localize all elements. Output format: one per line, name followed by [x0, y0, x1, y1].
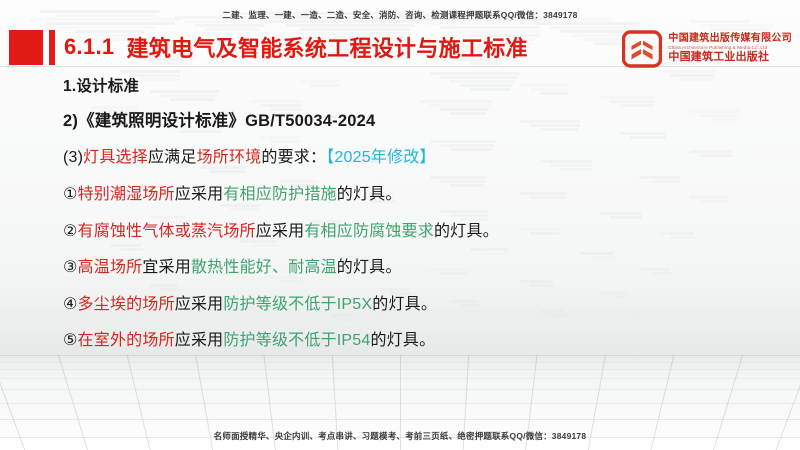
intro-connector: 应满足: [148, 149, 197, 166]
list-item: ⑤在室外的场所应采用防护等级不低于IP54的灯具。: [63, 326, 763, 350]
publisher-book-icon: [622, 29, 662, 69]
list-item: ③高温场所宜采用散热性能好、耐高温的灯具。: [63, 253, 763, 277]
item-requirement: 散热性能好、耐高温: [191, 259, 337, 276]
header-red-block: [9, 30, 43, 65]
header-red-bar: [49, 30, 55, 65]
item-tail: 的灯具。: [372, 296, 437, 313]
list-item: ①特别潮湿场所应采用有相应防护措施的灯具。: [63, 180, 763, 204]
publisher-logo: 中国建筑出版传媒有限公司 China Architecture Publishi…: [622, 27, 792, 71]
item-requirement: 有相应防护措施: [223, 186, 336, 203]
top-promo-banner: 二建、监理、一建、一造、二造、安全、消防、咨询、检测课程押题联系QQ/微信：38…: [0, 9, 800, 21]
page-title-text: 建筑电气及智能系统工程设计与施工标准: [126, 31, 527, 63]
item-requirement: 防护等级不低于IP5X: [223, 296, 372, 313]
item-verb: 宜采用: [142, 259, 191, 276]
item-subject: 多尘埃的场所: [78, 296, 175, 313]
item-tail: 的灯具。: [434, 223, 499, 240]
slide-content: 1.设计标准 2)《建筑照明设计标准》GB/T50034-2024 (3)灯具选…: [63, 74, 763, 363]
page-title: 6.1.1 建筑电气及智能系统工程设计与施工标准: [64, 26, 528, 68]
item-verb: 应采用: [175, 186, 224, 203]
intro-suffix: 的要求：: [261, 149, 326, 166]
slide-root: 二建、监理、一建、一造、二造、安全、消防、咨询、检测课程押题联系QQ/微信：38…: [0, 0, 800, 450]
standard-reference: 2)《建筑照明设计标准》GB/T50034-2024: [63, 107, 763, 131]
footer-promo-banner: 名师面授精华、央企内训、考点串讲、习题模考、考前三页纸、绝密押题联系QQ/微信：…: [0, 430, 800, 442]
item-subject: 有腐蚀性气体或蒸汽场所: [78, 223, 256, 240]
intro-line: (3)灯具选择应满足场所环境的要求：【2025年修改】: [63, 143, 763, 167]
publisher-press-cn: 中国建筑工业出版社: [668, 52, 792, 64]
item-subject: 高温场所: [78, 259, 143, 276]
intro-prefix: (3): [63, 149, 83, 166]
item-subject: 在室外的场所: [78, 332, 175, 349]
publisher-logo-text: 中国建筑出版传媒有限公司 China Architecture Publishi…: [668, 34, 792, 64]
intro-keyword-1: 灯具选择: [83, 149, 148, 166]
page-title-number: 6.1.1: [64, 34, 114, 60]
item-verb: 应采用: [175, 296, 224, 313]
item-tail: 的灯具。: [337, 259, 402, 276]
item-marker: ①: [63, 186, 78, 203]
item-verb: 应采用: [175, 332, 224, 349]
publisher-company-cn: 中国建筑出版传媒有限公司: [668, 34, 792, 45]
list-item: ④多尘埃的场所应采用防护等级不低于IP5X的灯具。: [63, 290, 763, 314]
item-marker: ②: [63, 223, 78, 240]
list-item: ②有腐蚀性气体或蒸汽场所应采用有相应防腐蚀要求的灯具。: [63, 217, 763, 241]
item-tail: 的灯具。: [337, 186, 402, 203]
item-marker: ⑤: [63, 332, 78, 349]
item-subject: 特别潮湿场所: [78, 186, 175, 203]
revision-badge: 【2025年修改】: [326, 149, 435, 166]
item-requirement: 防护等级不低于IP54: [223, 332, 370, 349]
item-marker: ③: [63, 259, 78, 276]
item-tail: 的灯具。: [370, 332, 435, 349]
section-heading: 1.设计标准: [63, 74, 763, 96]
intro-keyword-2: 场所环境: [197, 149, 262, 166]
item-marker: ④: [63, 296, 78, 313]
item-requirement: 有相应防腐蚀要求: [304, 223, 434, 240]
item-verb: 应采用: [256, 223, 305, 240]
